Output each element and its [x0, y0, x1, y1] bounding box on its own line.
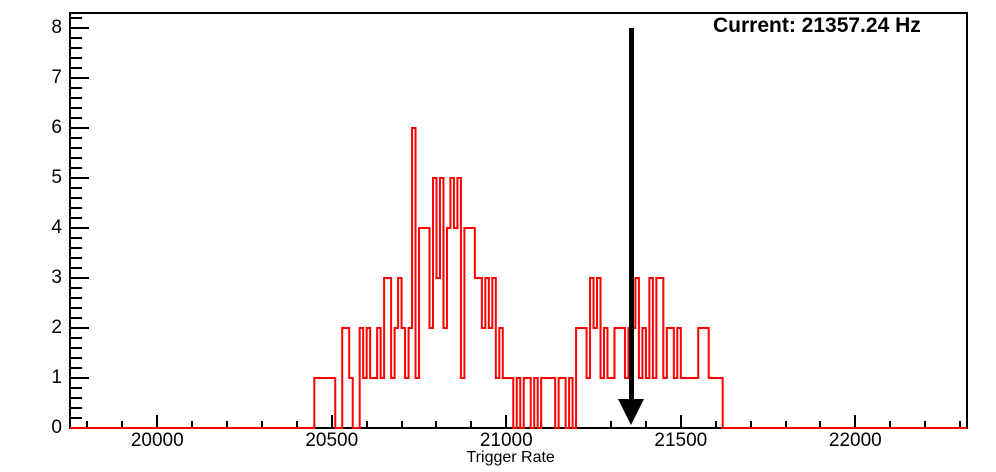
current-marker-line	[629, 28, 634, 401]
x-axis-title: Trigger Rate	[467, 449, 555, 467]
histogram-step-outline	[70, 128, 967, 428]
histogram-canvas: 012345678 2000020500210002150022000 Trig…	[0, 0, 996, 472]
histogram-series	[0, 0, 996, 472]
current-marker-arrowhead	[618, 399, 644, 425]
current-value-label: Current: 21357.24 Hz	[713, 14, 921, 38]
